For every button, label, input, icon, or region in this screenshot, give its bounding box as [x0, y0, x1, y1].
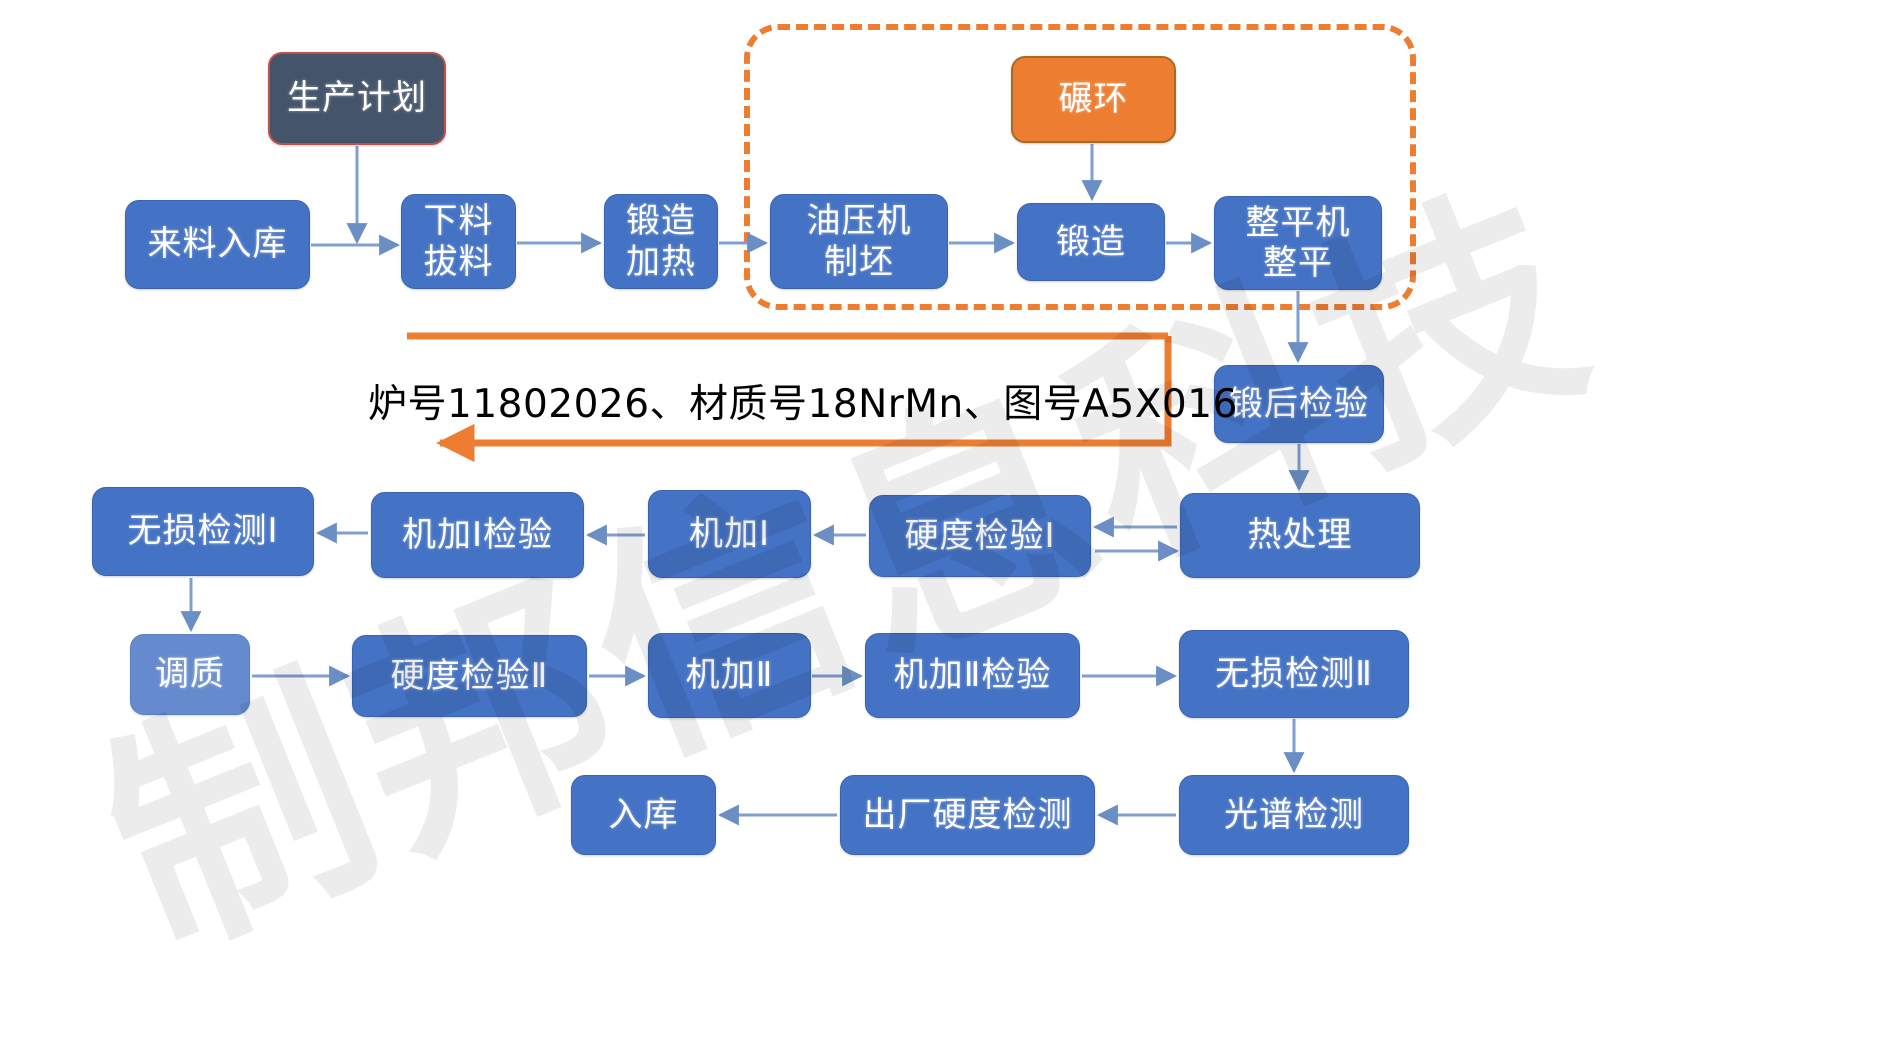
node-label: 生产计划 — [287, 78, 427, 118]
node-label: 热处理 — [1248, 515, 1353, 555]
node-label: 机加Ⅰ检验 — [402, 515, 553, 555]
node-spectrum[interactable]: 光谱检测 — [1179, 775, 1409, 855]
node-label: 油压机 制坯 — [807, 201, 912, 281]
node-ndt2[interactable]: 无损检测Ⅱ — [1179, 630, 1409, 718]
flowchart-canvas: 制邦信息科技 — [0, 0, 1890, 1063]
node-label: 来料入库 — [148, 224, 288, 264]
node-label: 出厂硬度检测 — [863, 795, 1073, 835]
node-label: 下料 拔料 — [424, 201, 494, 281]
node-temper[interactable]: 调质 — [130, 634, 250, 715]
node-machine2[interactable]: 机加Ⅱ — [648, 633, 811, 718]
node-hardness2[interactable]: 硬度检验Ⅱ — [352, 635, 587, 717]
node-label: 硬度检验Ⅱ — [391, 656, 549, 696]
node-plan[interactable]: 生产计划 — [268, 52, 446, 145]
node-label: 锻造 — [1056, 222, 1126, 262]
node-label: 机加Ⅱ — [686, 655, 774, 695]
node-label: 调质 — [155, 654, 225, 694]
node-label: 光谱检测 — [1224, 795, 1364, 835]
node-ring[interactable]: 碾环 — [1011, 56, 1176, 143]
node-label: 锻后检验 — [1229, 384, 1369, 424]
node-label: 硬度检验Ⅰ — [904, 516, 1055, 556]
node-flatten[interactable]: 整平机 整平 — [1214, 196, 1382, 290]
node-label: 机加Ⅰ — [689, 514, 770, 554]
node-label: 入库 — [609, 795, 679, 835]
node-incoming[interactable]: 来料入库 — [125, 200, 310, 289]
node-ndt1[interactable]: 无损检测Ⅰ — [92, 487, 314, 576]
node-label: 机加Ⅱ检验 — [894, 655, 1052, 695]
node-label: 整平机 整平 — [1246, 203, 1351, 283]
node-heat[interactable]: 锻造 加热 — [604, 194, 718, 289]
node-machine1ins[interactable]: 机加Ⅰ检验 — [371, 492, 584, 578]
node-label: 无损检测Ⅱ — [1215, 654, 1373, 694]
node-machine1[interactable]: 机加Ⅰ — [648, 490, 811, 578]
node-forge[interactable]: 锻造 — [1017, 203, 1165, 281]
node-warehouse[interactable]: 入库 — [571, 775, 716, 855]
node-label: 无损检测Ⅰ — [127, 511, 278, 551]
node-label: 锻造 加热 — [626, 201, 696, 281]
node-hardness1[interactable]: 硬度检验Ⅰ — [869, 495, 1091, 577]
node-machine2ins[interactable]: 机加Ⅱ检验 — [865, 633, 1080, 718]
node-cut[interactable]: 下料 拔料 — [401, 194, 516, 289]
node-postinsp[interactable]: 锻后检验 — [1214, 365, 1384, 443]
annotation-label: 炉号11802026、材质号18NrMn、图号A5X016 — [368, 373, 1238, 429]
node-press[interactable]: 油压机 制坯 — [770, 194, 948, 289]
node-label: 碾环 — [1059, 79, 1129, 119]
node-outhardness[interactable]: 出厂硬度检测 — [840, 775, 1095, 855]
node-heattreat[interactable]: 热处理 — [1180, 493, 1420, 578]
